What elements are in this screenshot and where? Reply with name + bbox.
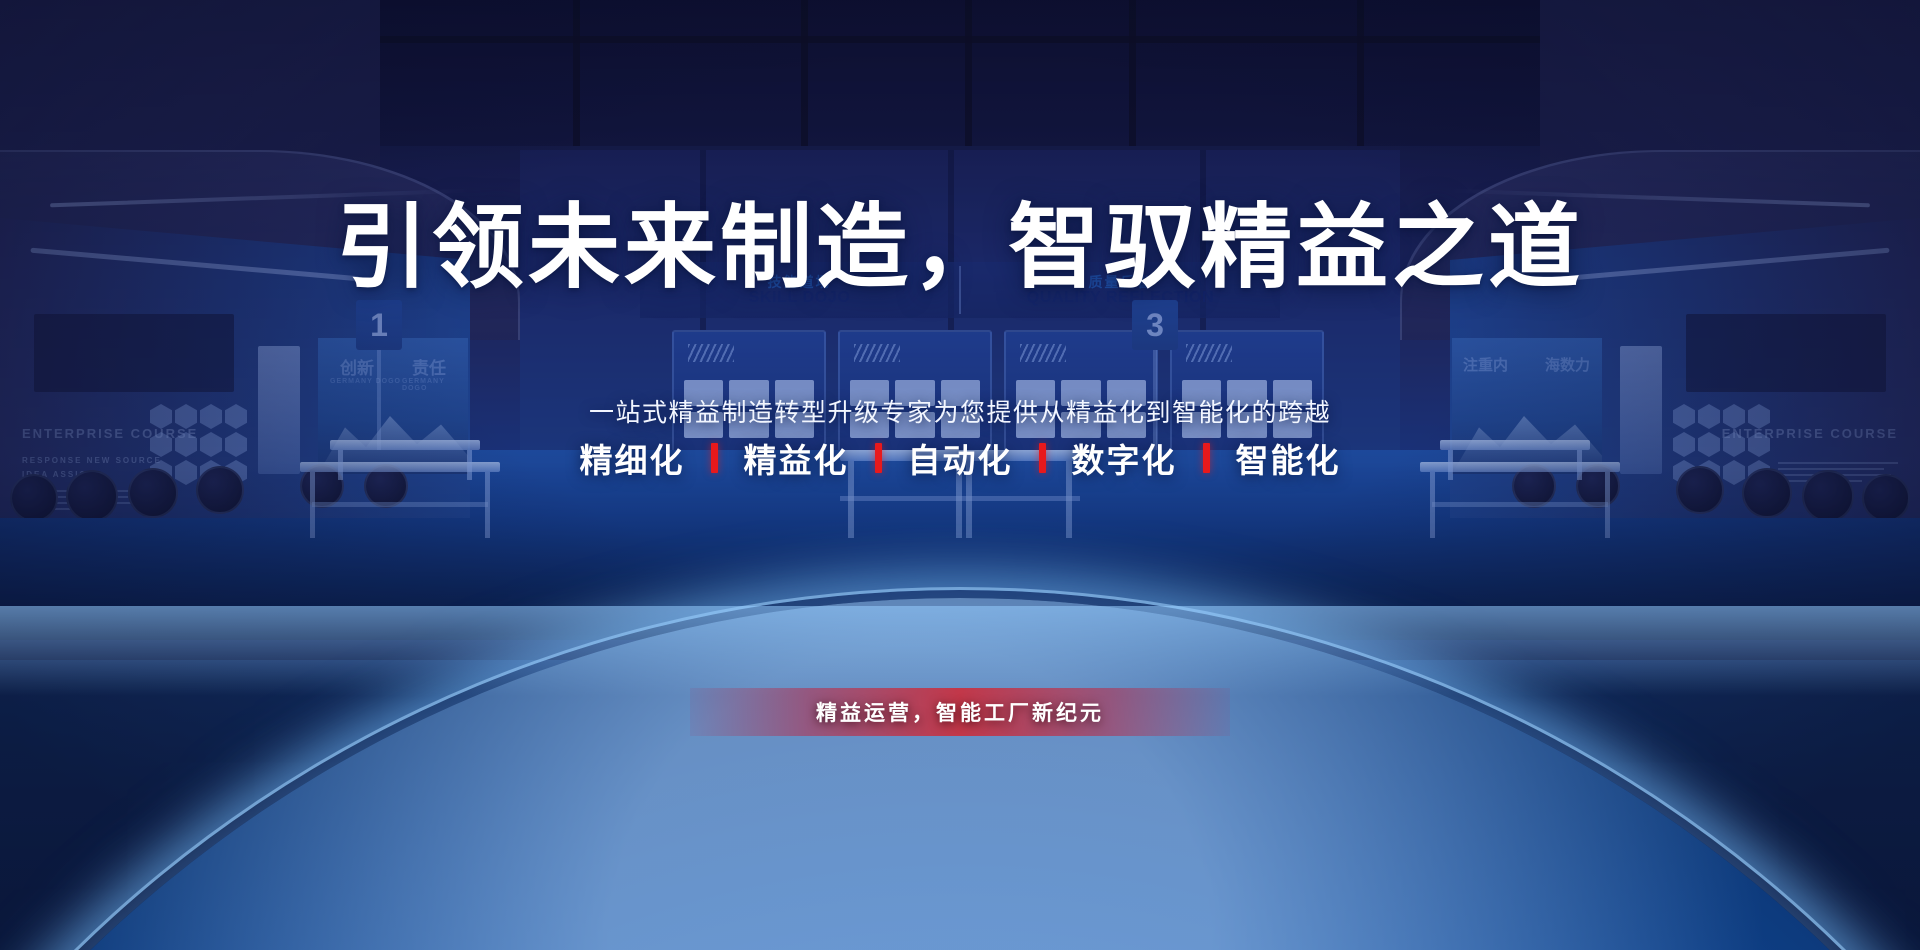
keyword-item: 自动化 <box>908 434 1013 482</box>
hero-subtitle: 一站式精益制造转型升级专家为您提供从精益化到智能化的跨越 <box>0 393 1920 429</box>
page-title: 引领未来制造，智驭精益之道 <box>0 202 1920 294</box>
keyword-item: 数字化 <box>1072 434 1177 482</box>
hero-content: 引领未来制造，智驭精益之道 一站式精益制造转型升级专家为您提供从精益化到智能化的… <box>0 0 1920 950</box>
hero-banner: 技能道场 SKILL DOJO 质量反省 QUALITY REFLECTION … <box>0 0 1920 950</box>
keyword-separator-icon <box>711 443 718 473</box>
cta-banner-label: 精益运营，智能工厂新纪元 <box>816 697 1104 727</box>
keyword-item: 智能化 <box>1236 434 1341 482</box>
keyword-separator-icon <box>1203 443 1210 473</box>
keyword-item: 精细化 <box>580 434 685 482</box>
keyword-separator-icon <box>875 443 882 473</box>
keyword-separator-icon <box>1039 443 1046 473</box>
keyword-list: 精细化 精益化 自动化 数字化 智能化 <box>0 434 1920 482</box>
keyword-item: 精益化 <box>744 434 849 482</box>
cta-banner[interactable]: 精益运营，智能工厂新纪元 <box>690 688 1230 736</box>
